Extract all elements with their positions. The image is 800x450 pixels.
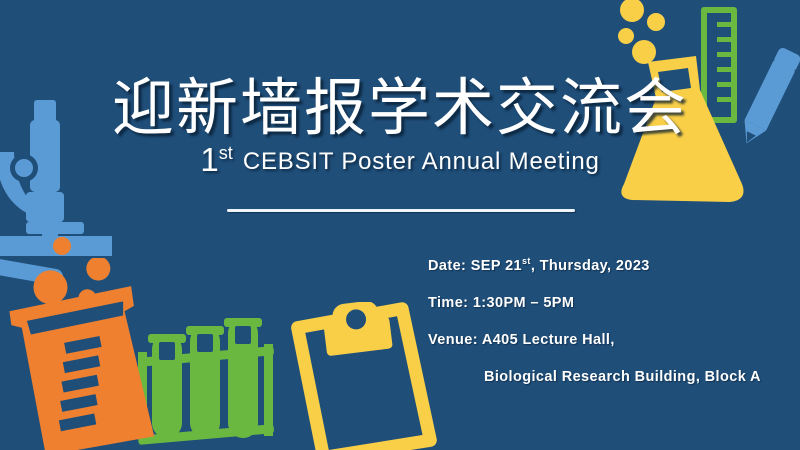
detail-venue-line2: Biological Research Building, Block A (484, 369, 761, 385)
event-details: Date: SEP 21st, Thursday, 2023 Time: 1:3… (428, 256, 761, 385)
beaker-icon (0, 258, 172, 450)
date-value-suffix: st (522, 256, 531, 266)
detail-time: Time: 1:30PM – 5PM (428, 295, 761, 311)
clipboard-icon (288, 302, 438, 450)
poster-canvas: 迎新墙报学术交流会 1st CEBSIT Poster Annual Meeti… (0, 0, 800, 450)
ordinal-suffix: st (219, 143, 233, 163)
ordinal-number: 1 (200, 141, 218, 178)
test-tubes-icon (138, 312, 290, 450)
title-block: 迎新墙报学术交流会 1st CEBSIT Poster Annual Meeti… (0, 76, 800, 176)
date-value-pre: SEP 21 (466, 258, 522, 274)
page-title: 迎新墙报学术交流会 (0, 76, 800, 139)
date-value-post: , Thursday, 2023 (531, 258, 650, 274)
detail-date: Date: SEP 21st, Thursday, 2023 (428, 256, 761, 274)
subtitle-row: 1st CEBSIT Poster Annual Meeting (0, 143, 800, 176)
date-label: Date: (428, 258, 466, 274)
subtitle-english: CEBSIT Poster Annual Meeting (243, 150, 600, 176)
edition-ordinal: 1st (200, 143, 232, 176)
detail-venue-line1: Venue: A405 Lecture Hall, (428, 332, 761, 348)
title-divider (227, 209, 575, 212)
